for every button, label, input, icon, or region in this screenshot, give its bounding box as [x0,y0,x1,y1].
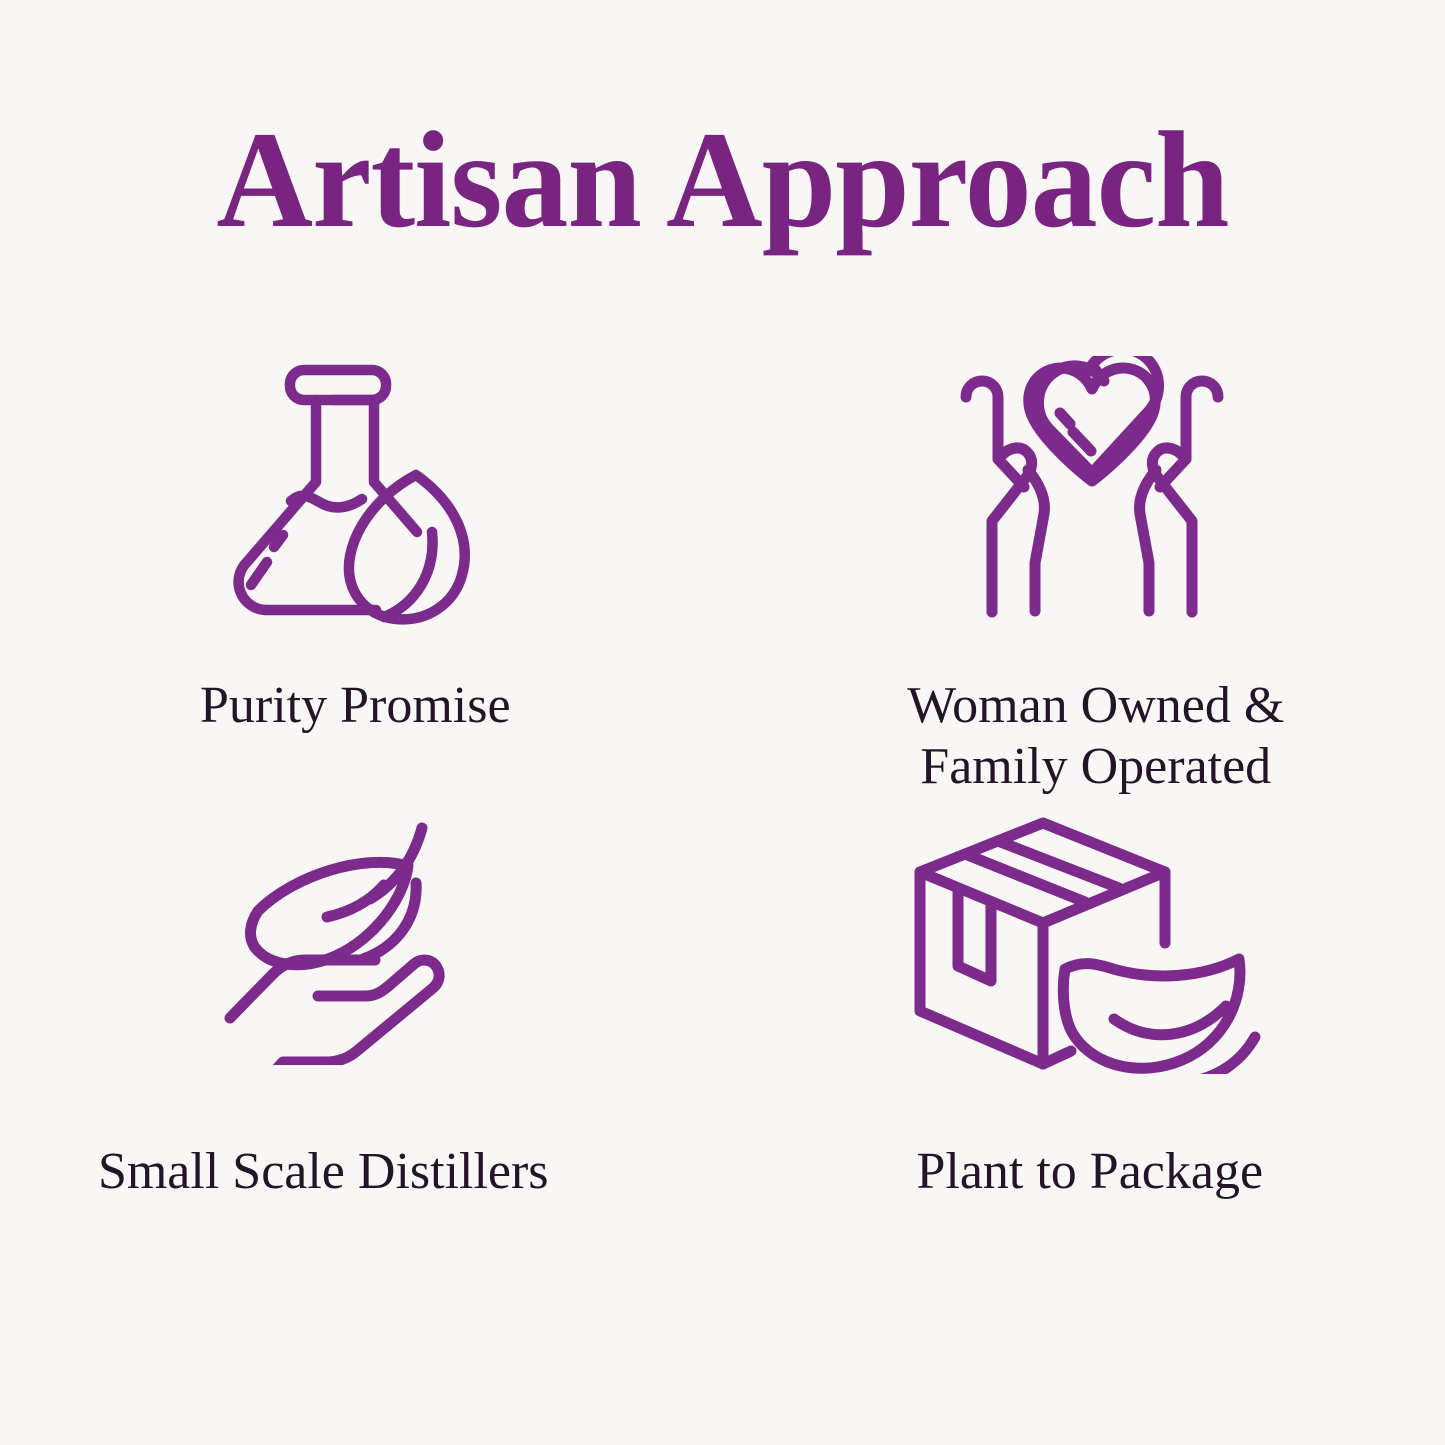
artisan-approach-infographic: Artisan Approach [0,0,1445,1445]
feature-grid: Purity Promise [0,345,1445,1225]
flask-leaf-icon [220,350,482,630]
feature-label: Purity Promise [200,675,511,736]
feature-label: Woman Owned & Family Operated [907,675,1284,798]
hands-heart-icon [942,356,1242,624]
hand-leaf-icon [217,815,461,1065]
feature-item-woman-owned: Woman Owned & Family Operated [723,345,1445,805]
feature-item-small-scale-distillers: Small Scale Distillers [0,805,723,1225]
feature-label: Plant to Package [916,1141,1263,1202]
box-leaf-icon [903,806,1285,1074]
feature-icon-wrapper [0,805,701,1075]
feature-icon-wrapper [0,345,713,635]
page-title-wrapper: Artisan Approach [0,108,1445,253]
feature-icon-wrapper [731,345,1445,635]
feature-label: Small Scale Distillers [98,1141,549,1202]
feature-icon-wrapper [733,805,1445,1075]
feature-item-plant-to-package: Plant to Package [723,805,1445,1225]
feature-item-purity-promise: Purity Promise [0,345,723,805]
page-title: Artisan Approach [22,108,1424,253]
